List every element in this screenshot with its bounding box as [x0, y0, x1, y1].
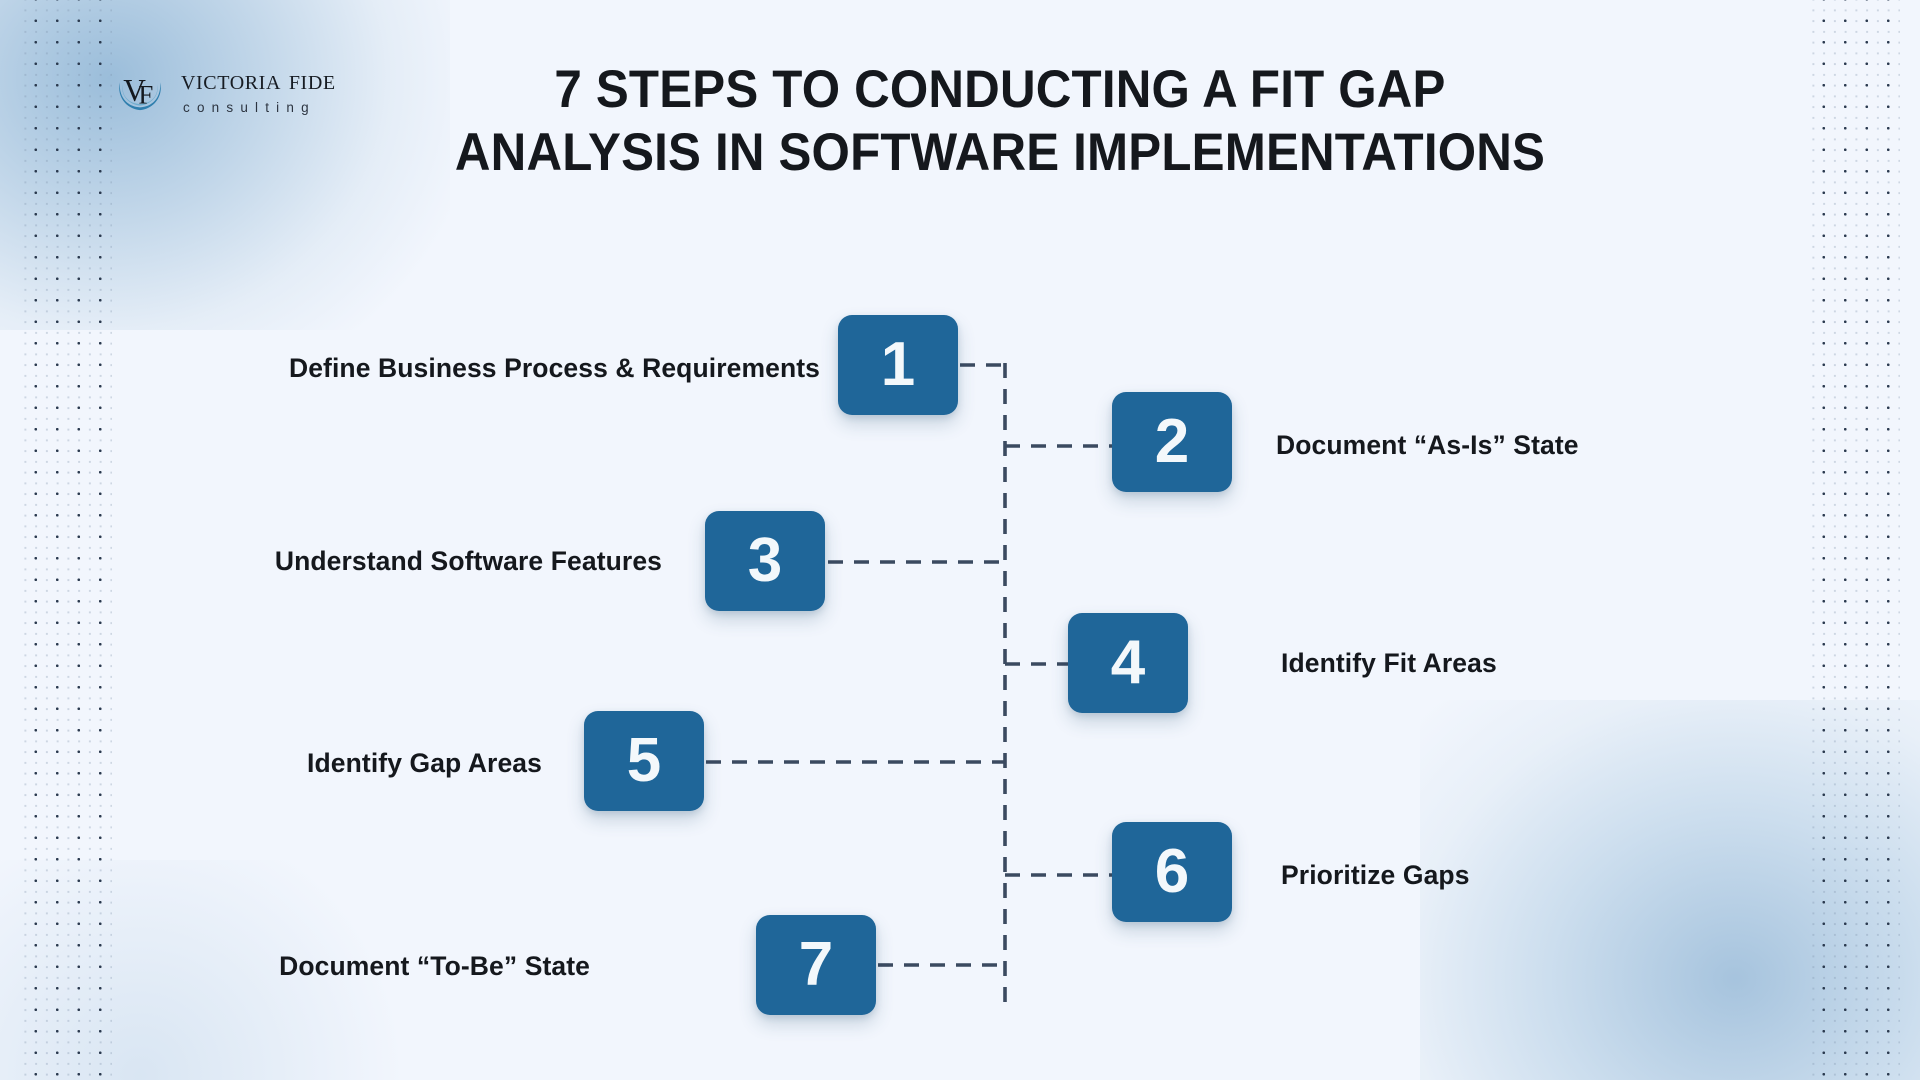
step-number-1: 1	[881, 334, 915, 396]
brand-tagline: consulting	[181, 101, 336, 115]
brand-logo[interactable]: V F Victoria Fide consulting	[112, 62, 336, 118]
page-title: 7 STEPS TO CONDUCTING A FIT GAP ANALYSIS…	[423, 58, 1576, 184]
step-box-4[interactable]: 4	[1068, 613, 1188, 713]
step-box-2[interactable]: 2	[1112, 392, 1232, 492]
step-box-7[interactable]: 7	[756, 915, 876, 1015]
step-number-7: 7	[799, 934, 833, 996]
step-number-6: 6	[1155, 841, 1189, 903]
page-title-line-1: 7 STEPS TO CONDUCTING A FIT GAP	[423, 58, 1576, 121]
step-number-2: 2	[1155, 411, 1189, 473]
step-box-5[interactable]: 5	[584, 711, 704, 811]
step-number-3: 3	[748, 530, 782, 592]
vf-monogram-icon: V F	[112, 62, 168, 118]
step-box-1[interactable]: 1	[838, 315, 958, 415]
step-box-3[interactable]: 3	[705, 511, 825, 611]
page-title-line-2: ANALYSIS IN SOFTWARE IMPLEMENTATIONS	[423, 121, 1576, 184]
step-number-4: 4	[1111, 632, 1145, 694]
step-box-6[interactable]: 6	[1112, 822, 1232, 922]
infographic-canvas: V F Victoria Fide consulting 7 STEPS TO …	[0, 0, 1920, 1080]
svg-text:F: F	[138, 79, 153, 109]
brand-name: Victoria Fide	[181, 66, 336, 95]
step-number-5: 5	[627, 730, 661, 792]
